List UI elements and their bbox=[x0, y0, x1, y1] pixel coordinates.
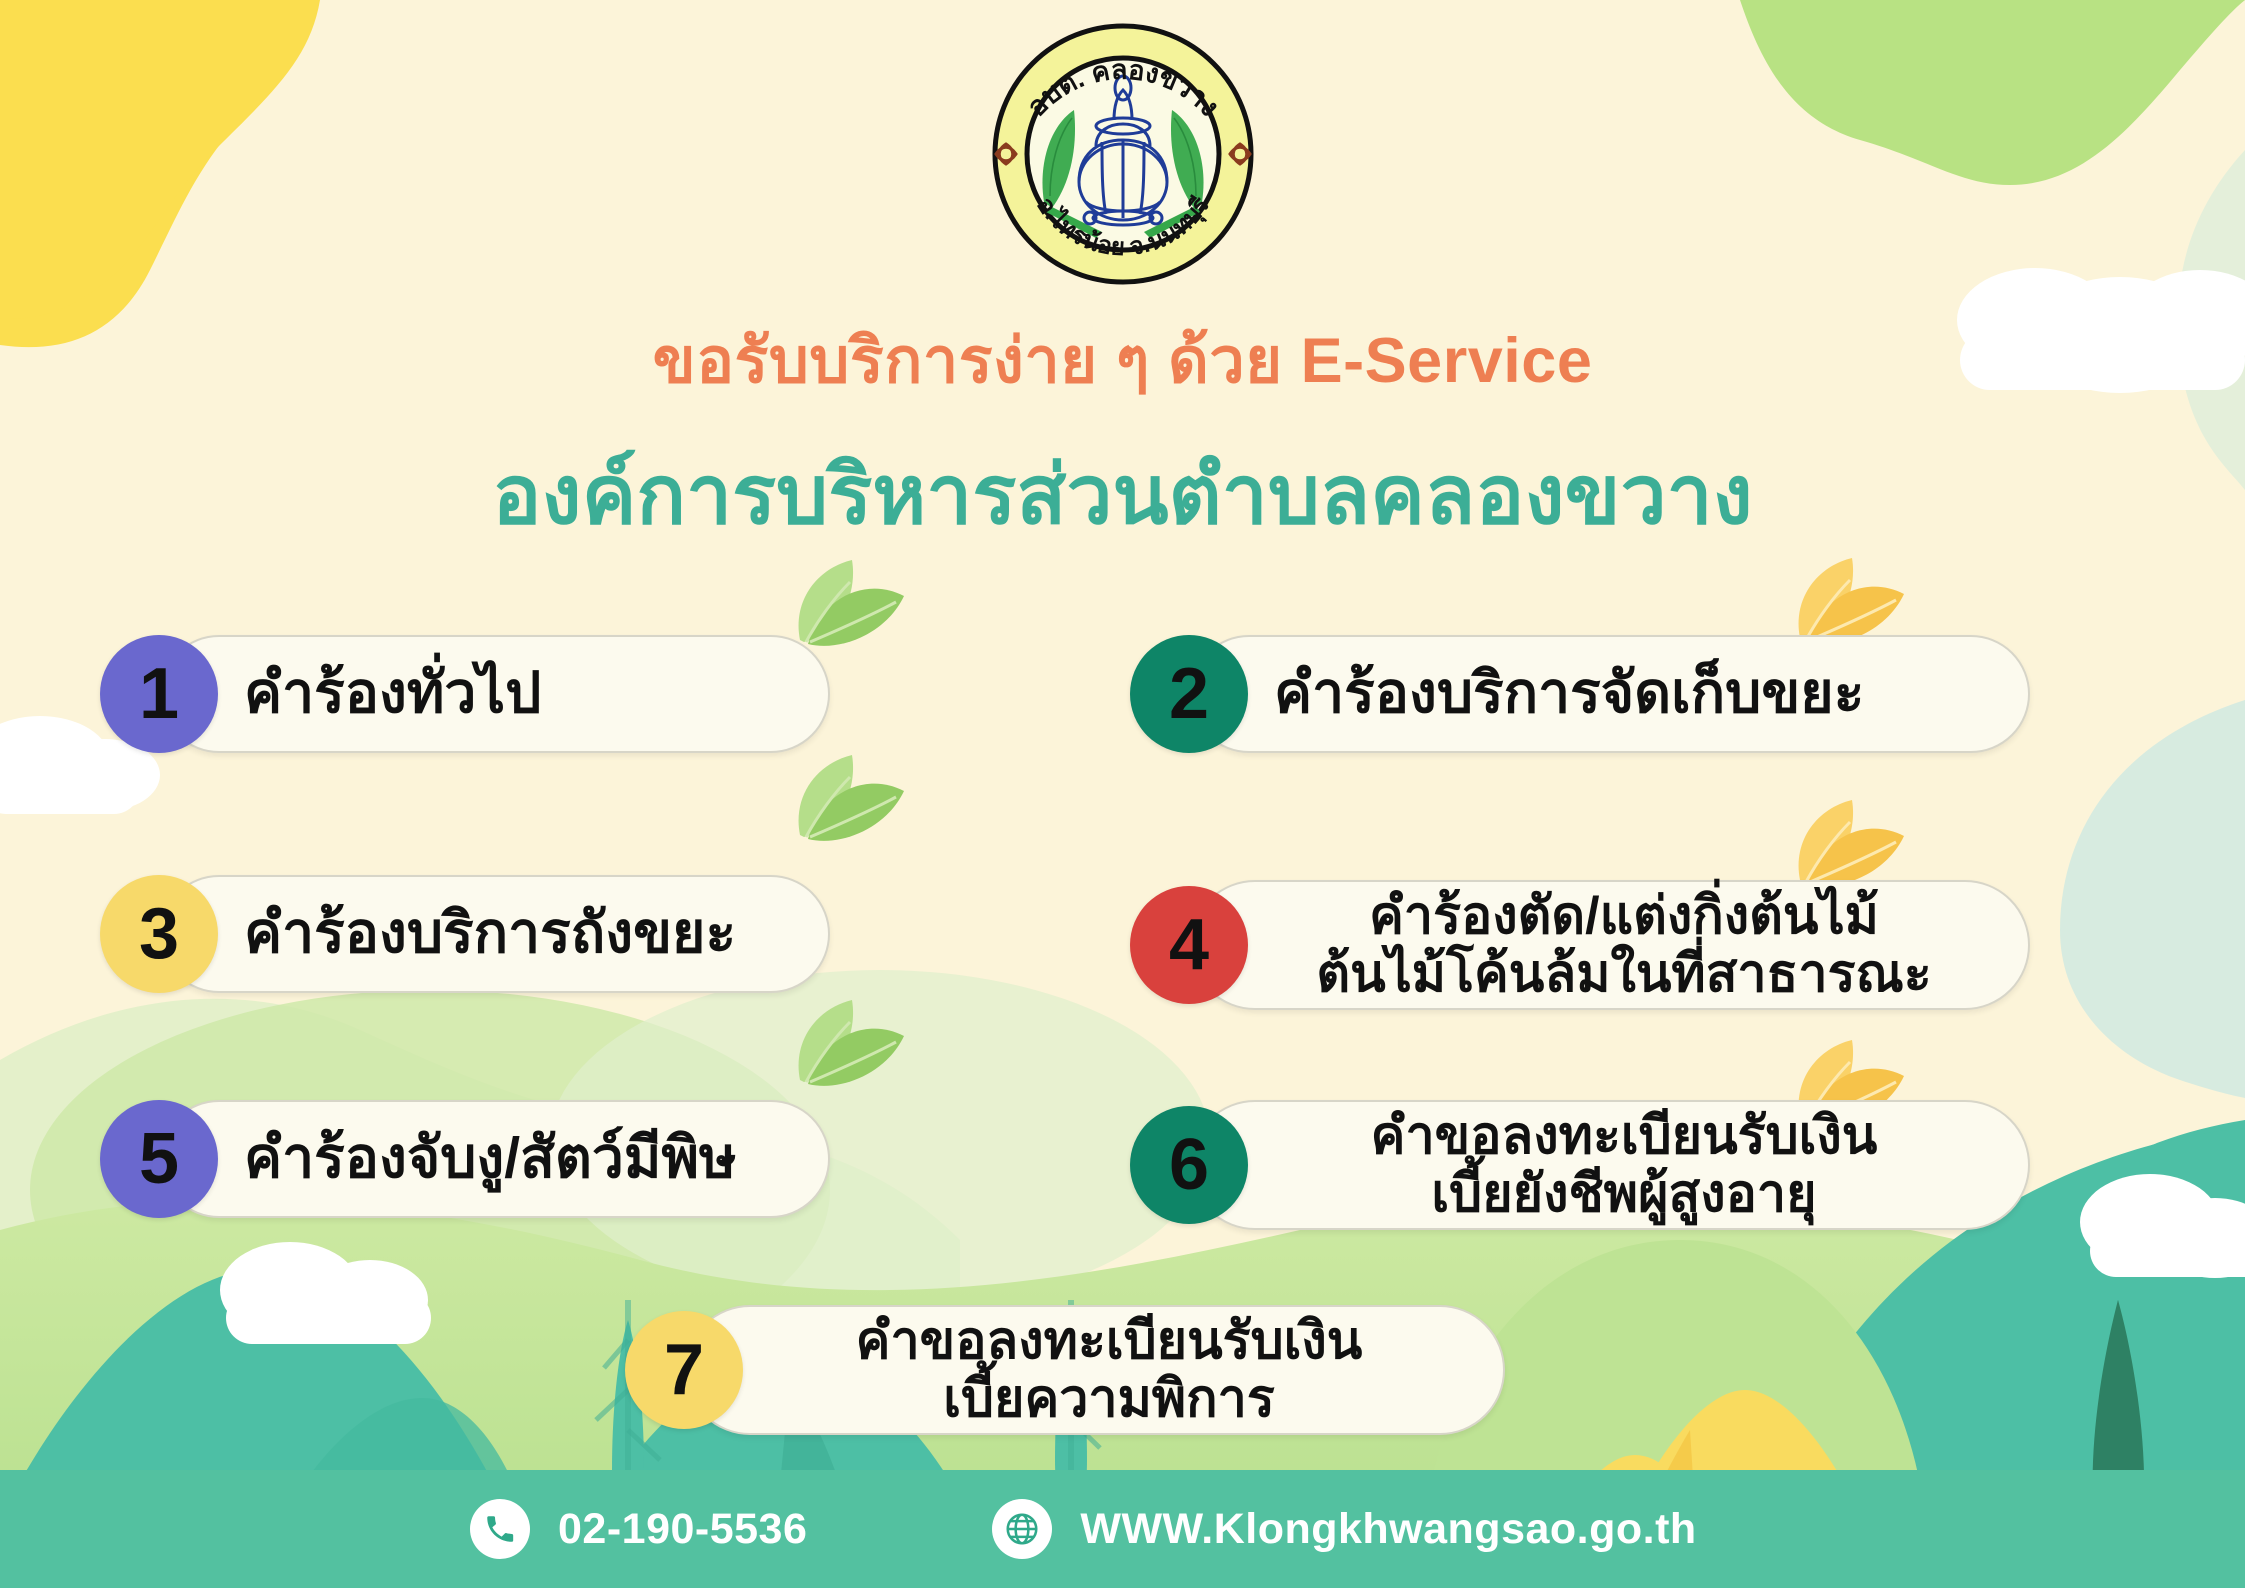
service-number-badge: 6 bbox=[1130, 1106, 1248, 1224]
service-label: คำร้องจับงู/สัตว์มีพิษ bbox=[244, 1127, 737, 1191]
service-number-badge: 2 bbox=[1130, 635, 1248, 753]
service-item-7[interactable]: 7 คำขอลงทะเบียนรับเงิน เบี้ยความพิการ bbox=[625, 1305, 1505, 1435]
service-item-6[interactable]: 6 คำขอลงทะเบียนรับเงิน เบี้ยยังชีพผู้สูง… bbox=[1130, 1100, 2030, 1230]
phone-number: 02-190-5536 bbox=[558, 1505, 807, 1554]
contact-footer: 02-190-5536 WWW.Klongkhwangsao.go.th bbox=[0, 1470, 2245, 1588]
service-item-1[interactable]: 1 คำร้องทั่วไป bbox=[100, 635, 830, 753]
service-list: 1 คำร้องทั่วไป 2 คำร้องบริการจัดเก็บขยะ … bbox=[0, 0, 2245, 1588]
service-number-badge: 1 bbox=[100, 635, 218, 753]
footer-website[interactable]: WWW.Klongkhwangsao.go.th bbox=[992, 1499, 1696, 1559]
globe-icon bbox=[992, 1499, 1052, 1559]
service-item-3[interactable]: 3 คำร้องบริการถังขยะ bbox=[100, 875, 830, 993]
footer-phone[interactable]: 02-190-5536 bbox=[470, 1499, 807, 1559]
service-label: คำขอลงทะเบียนรับเงิน เบี้ยความพิการ bbox=[743, 1312, 1505, 1428]
service-label: คำร้องตัด/แต่งกิ่งต้นไม้ ต้นไม้โค้นล้มใน… bbox=[1248, 887, 2030, 1003]
service-label: คำขอลงทะเบียนรับเงิน เบี้ยยังชีพผู้สูงอา… bbox=[1248, 1107, 2030, 1223]
service-number-badge: 7 bbox=[625, 1311, 743, 1429]
service-number-badge: 5 bbox=[100, 1100, 218, 1218]
phone-icon bbox=[470, 1499, 530, 1559]
service-label: คำร้องทั่วไป bbox=[244, 662, 541, 726]
service-item-4[interactable]: 4 คำร้องตัด/แต่งกิ่งต้นไม้ ต้นไม้โค้นล้ม… bbox=[1130, 880, 2030, 1010]
infographic-poster: อบต. คลองขวาง อ.ไทรน้อย จ.นนทบุรี ขอรับบ… bbox=[0, 0, 2245, 1588]
service-label: คำร้องบริการถังขยะ bbox=[244, 902, 736, 966]
website-url: WWW.Klongkhwangsao.go.th bbox=[1080, 1505, 1696, 1554]
service-number-badge: 4 bbox=[1130, 886, 1248, 1004]
service-item-2[interactable]: 2 คำร้องบริการจัดเก็บขยะ bbox=[1130, 635, 2030, 753]
service-label: คำร้องบริการจัดเก็บขยะ bbox=[1274, 662, 1864, 726]
service-number-badge: 3 bbox=[100, 875, 218, 993]
service-item-5[interactable]: 5 คำร้องจับงู/สัตว์มีพิษ bbox=[100, 1100, 830, 1218]
